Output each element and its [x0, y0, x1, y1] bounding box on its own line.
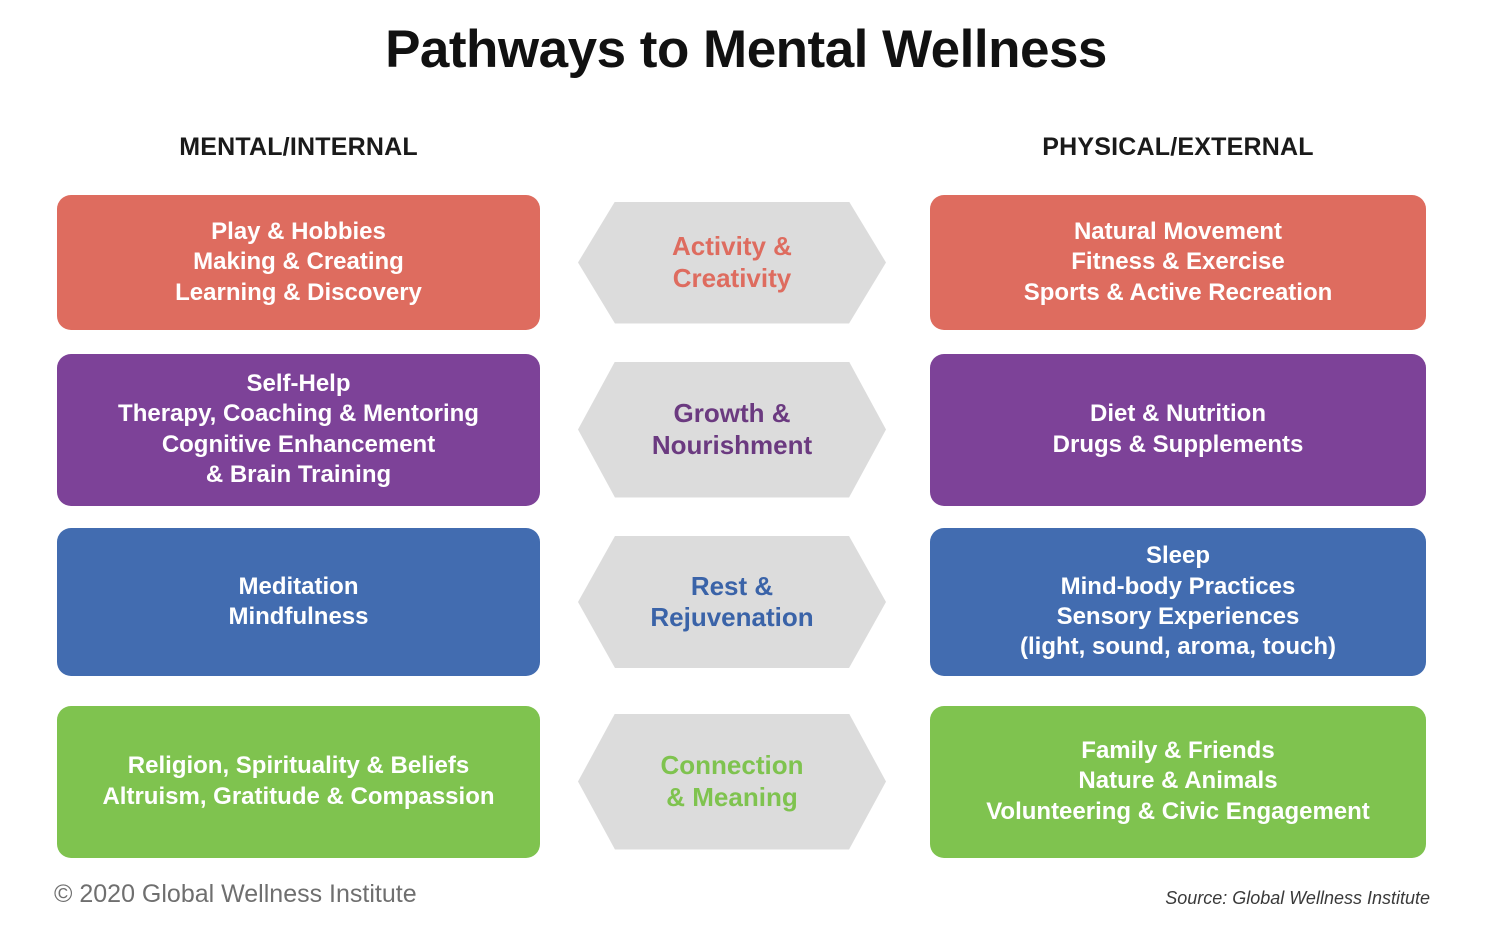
infographic-root: Pathways to Mental Wellness MENTAL/INTER… — [0, 0, 1492, 942]
card-mental-rest-text: Meditation Mindfulness — [228, 572, 368, 633]
card-physical-activity: Natural Movement Fitness & Exercise Spor… — [930, 195, 1426, 330]
hexagon-pathway-growth: Growth & Nourishment — [578, 362, 886, 498]
page-title: Pathways to Mental Wellness — [0, 20, 1492, 81]
card-physical-activity-text: Natural Movement Fitness & Exercise Spor… — [1024, 217, 1333, 308]
card-physical-growth-text: Diet & Nutrition Drugs & Supplements — [1053, 399, 1304, 460]
hexagon-pathway-rest: Rest & Rejuvenation — [578, 536, 886, 668]
card-physical-growth: Diet & Nutrition Drugs & Supplements — [930, 354, 1426, 506]
column-header-mental-internal: MENTAL/INTERNAL — [57, 133, 540, 162]
card-mental-rest: Meditation Mindfulness — [57, 528, 540, 676]
card-mental-activity: Play & Hobbies Making & Creating Learnin… — [57, 195, 540, 330]
card-mental-growth: Self-Help Therapy, Coaching & Mentoring … — [57, 354, 540, 506]
hexagon-pathway-connection: Connection & Meaning — [578, 714, 886, 850]
hexagon-pathway-rest-label: Rest & Rejuvenation — [650, 571, 813, 633]
pathway-row-growth: Self-Help Therapy, Coaching & Mentoring … — [0, 347, 1492, 512]
card-mental-growth-text: Self-Help Therapy, Coaching & Mentoring … — [118, 369, 479, 491]
pathway-row-connection: Religion, Spirituality & Beliefs Altruis… — [0, 699, 1492, 864]
card-mental-connection-text: Religion, Spirituality & Beliefs Altruis… — [102, 751, 494, 812]
pathway-row-activity: Play & Hobbies Making & Creating Learnin… — [0, 185, 1492, 340]
hexagon-pathway-activity: Activity & Creativity — [578, 202, 886, 324]
column-header-physical-external: PHYSICAL/EXTERNAL — [930, 133, 1426, 162]
hexagon-pathway-activity-label: Activity & Creativity — [672, 231, 792, 293]
footer-source: Source: Global Wellness Institute — [1165, 888, 1430, 909]
hexagon-pathway-connection-label: Connection & Meaning — [661, 750, 804, 812]
pathway-row-rest: Meditation MindfulnessRest & Rejuvenatio… — [0, 521, 1492, 683]
card-physical-connection: Family & Friends Nature & Animals Volunt… — [930, 706, 1426, 858]
card-physical-rest-text: Sleep Mind-body Practices Sensory Experi… — [1020, 541, 1336, 663]
hexagon-pathway-growth-label: Growth & Nourishment — [652, 398, 812, 460]
card-physical-rest: Sleep Mind-body Practices Sensory Experi… — [930, 528, 1426, 676]
card-mental-activity-text: Play & Hobbies Making & Creating Learnin… — [175, 217, 422, 308]
card-mental-connection: Religion, Spirituality & Beliefs Altruis… — [57, 706, 540, 858]
card-physical-connection-text: Family & Friends Nature & Animals Volunt… — [986, 736, 1370, 827]
footer-copyright: © 2020 Global Wellness Institute — [54, 880, 417, 909]
